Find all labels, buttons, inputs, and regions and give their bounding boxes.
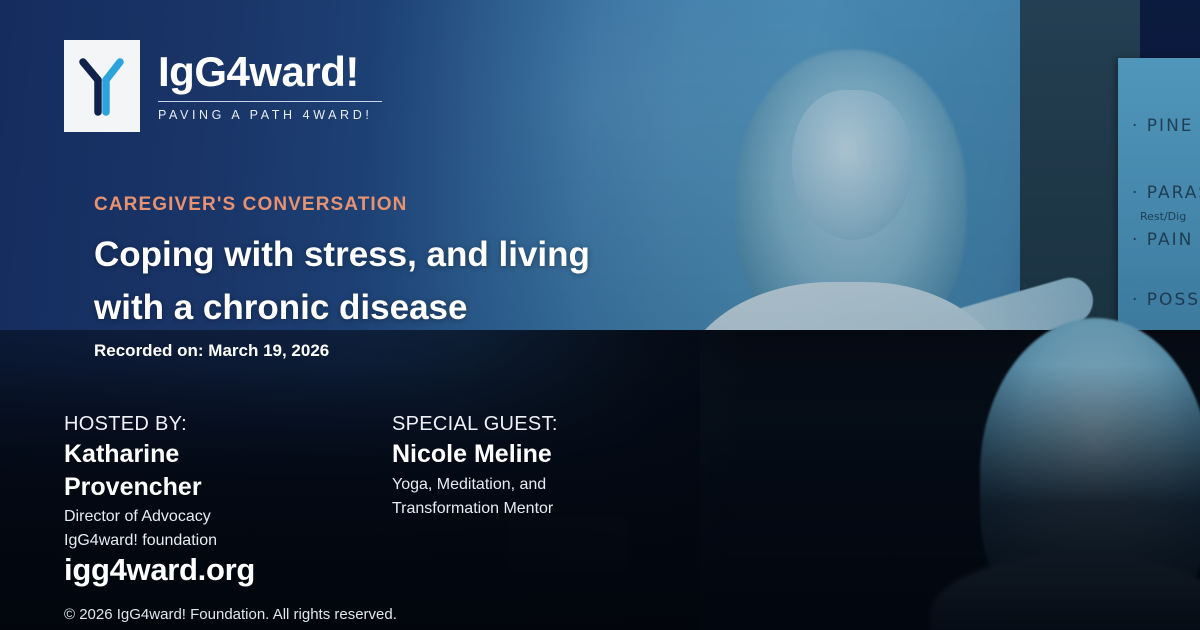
guest-desc-line1: Yoga, Meditation, and [392, 474, 642, 495]
brand-wordmark-block: IgG4ward! PAVING A PATH 4WARD! [158, 50, 382, 122]
brand-tagline: PAVING A PATH 4WARD! [158, 108, 382, 122]
antibody-y-icon [64, 40, 140, 132]
card-content: IgG4ward! PAVING A PATH 4WARD! CAREGIVER… [0, 0, 1200, 630]
brand-divider [158, 101, 382, 102]
webinar-promo-card: · PINE · PARAS Rest/Dig · PAIN · POSSI [0, 0, 1200, 630]
people-row: HOSTED BY: Katharine Provencher Director… [64, 412, 642, 551]
guest-desc-line2: Transformation Mentor [392, 498, 642, 519]
guest-block: SPECIAL GUEST: Nicole Meline Yoga, Medit… [392, 412, 642, 551]
guest-name: Nicole Meline [392, 438, 642, 471]
host-desc-line2: IgG4ward! foundation [64, 530, 314, 551]
host-block: HOSTED BY: Katharine Provencher Director… [64, 412, 314, 551]
guest-role-label: SPECIAL GUEST: [392, 412, 642, 437]
series-eyebrow: CAREGIVER'S CONVERSATION [94, 194, 408, 216]
brand-wordmark: IgG4ward! [158, 50, 382, 94]
host-desc-line1: Director of Advocacy [64, 506, 314, 527]
website-link[interactable]: igg4ward.org [64, 552, 255, 588]
brand-logo[interactable]: IgG4ward! PAVING A PATH 4WARD! [64, 40, 382, 132]
host-name: Katharine Provencher [64, 438, 314, 503]
page-title: Coping with stress, and living with a ch… [94, 228, 654, 334]
host-role-label: HOSTED BY: [64, 412, 314, 437]
copyright-text: © 2026 IgG4ward! Foundation. All rights … [64, 606, 397, 623]
recorded-date: Recorded on: March 19, 2026 [94, 341, 329, 361]
